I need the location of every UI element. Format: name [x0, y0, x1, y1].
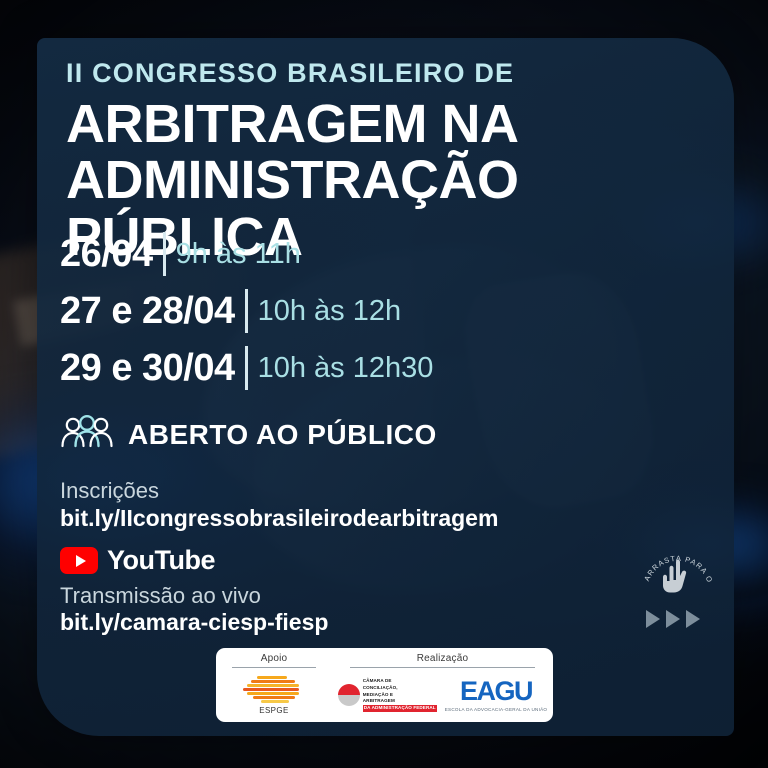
audience-block: ABERTO AO PÚBLICO — [60, 415, 437, 454]
camara-line-2: CONCILIAÇÃO, — [363, 685, 398, 690]
youtube-icon — [60, 547, 98, 574]
espge-logo: ESPGE — [243, 676, 305, 715]
camara-circle-icon — [338, 684, 360, 706]
youtube-label: YouTube — [107, 545, 215, 576]
registration-label: Inscrições — [60, 478, 159, 504]
swipe-hand-icon: ARRASTA PARA O LADO — [636, 530, 720, 614]
support-heading: Apoio — [261, 653, 288, 664]
camara-line-1: CÂMARA DE — [363, 678, 392, 683]
broadcast-link[interactable]: bit.ly/camara-ciesp-fiesp — [60, 609, 328, 636]
camara-badge: DA ADMINISTRAÇÃO FEDERAL — [363, 705, 437, 712]
camara-line-3: MEDIAÇÃO E — [363, 692, 393, 697]
schedule-time: 10h às 12h — [258, 295, 402, 328]
people-group-icon — [60, 415, 114, 454]
audience-label: ABERTO AO PÚBLICO — [128, 419, 437, 451]
poster-canvas: II CONGRESSO BRASILEIRO DE ARBITRAGEM NA… — [0, 0, 768, 768]
camara-text: CÂMARA DE CONCILIAÇÃO, MEDIAÇÃO E ARBITR… — [363, 678, 437, 711]
schedule-row: 27 e 28/04 10h às 12h — [60, 289, 433, 333]
camara-conciliacao-logo: CÂMARA DE CONCILIAÇÃO, MEDIAÇÃO E ARBITR… — [338, 678, 437, 711]
schedule-divider — [245, 346, 248, 390]
event-title-line-1: ARBITRAGEM NA — [66, 96, 518, 153]
chevron-right-icon — [686, 610, 700, 628]
registration-link[interactable]: bit.ly/IIcongressobrasileirodearbitragem — [60, 505, 498, 532]
chevron-right-icon — [666, 610, 680, 628]
eagu-wordmark: EAGU — [460, 678, 532, 705]
schedule-row: 26/04 9h às 11h — [60, 232, 433, 276]
eagu-logo: EAGU ESCOLA DA ADVOCACIA-GERAL DA UNIÃO — [445, 678, 548, 712]
sponsor-bar: Apoio ESPGE Realizaçã — [216, 648, 553, 722]
event-kicker: II CONGRESSO BRASILEIRO DE — [66, 58, 514, 89]
svg-text:ARRASTA PARA O LADO: ARRASTA PARA O LADO — [636, 530, 715, 584]
swipe-hint-text: ARRASTA PARA O LADO — [636, 530, 715, 584]
espge-label: ESPGE — [259, 706, 289, 715]
camara-line-4: ARBITRAGEM — [363, 698, 395, 703]
swipe-hint: ARRASTA PARA O LADO — [636, 530, 720, 634]
broadcast-label: Transmissão ao vivo — [60, 583, 261, 609]
youtube-block[interactable]: YouTube — [60, 545, 215, 576]
schedule-time: 9h às 11h — [176, 238, 301, 271]
chevron-right-icon — [646, 610, 660, 628]
schedule-divider — [245, 289, 248, 333]
support-column: Apoio ESPGE — [216, 648, 332, 722]
schedule-date: 27 e 28/04 — [60, 290, 235, 333]
espge-mark-icon — [243, 676, 305, 704]
schedule-time: 10h às 12h30 — [258, 352, 434, 385]
schedule-row: 29 e 30/04 10h às 12h30 — [60, 346, 433, 390]
eagu-subtitle: ESCOLA DA ADVOCACIA-GERAL DA UNIÃO — [445, 707, 548, 712]
realization-column: Realização CÂMARA DE CONCILIAÇÃO, MEDIAÇ… — [332, 648, 553, 722]
swipe-arrows — [646, 610, 700, 628]
schedule-list: 26/04 9h às 11h 27 e 28/04 10h às 12h 29… — [60, 232, 433, 403]
schedule-date: 29 e 30/04 — [60, 347, 235, 390]
schedule-date: 26/04 — [60, 233, 153, 276]
schedule-divider — [163, 232, 166, 276]
realization-heading: Realização — [417, 653, 468, 664]
